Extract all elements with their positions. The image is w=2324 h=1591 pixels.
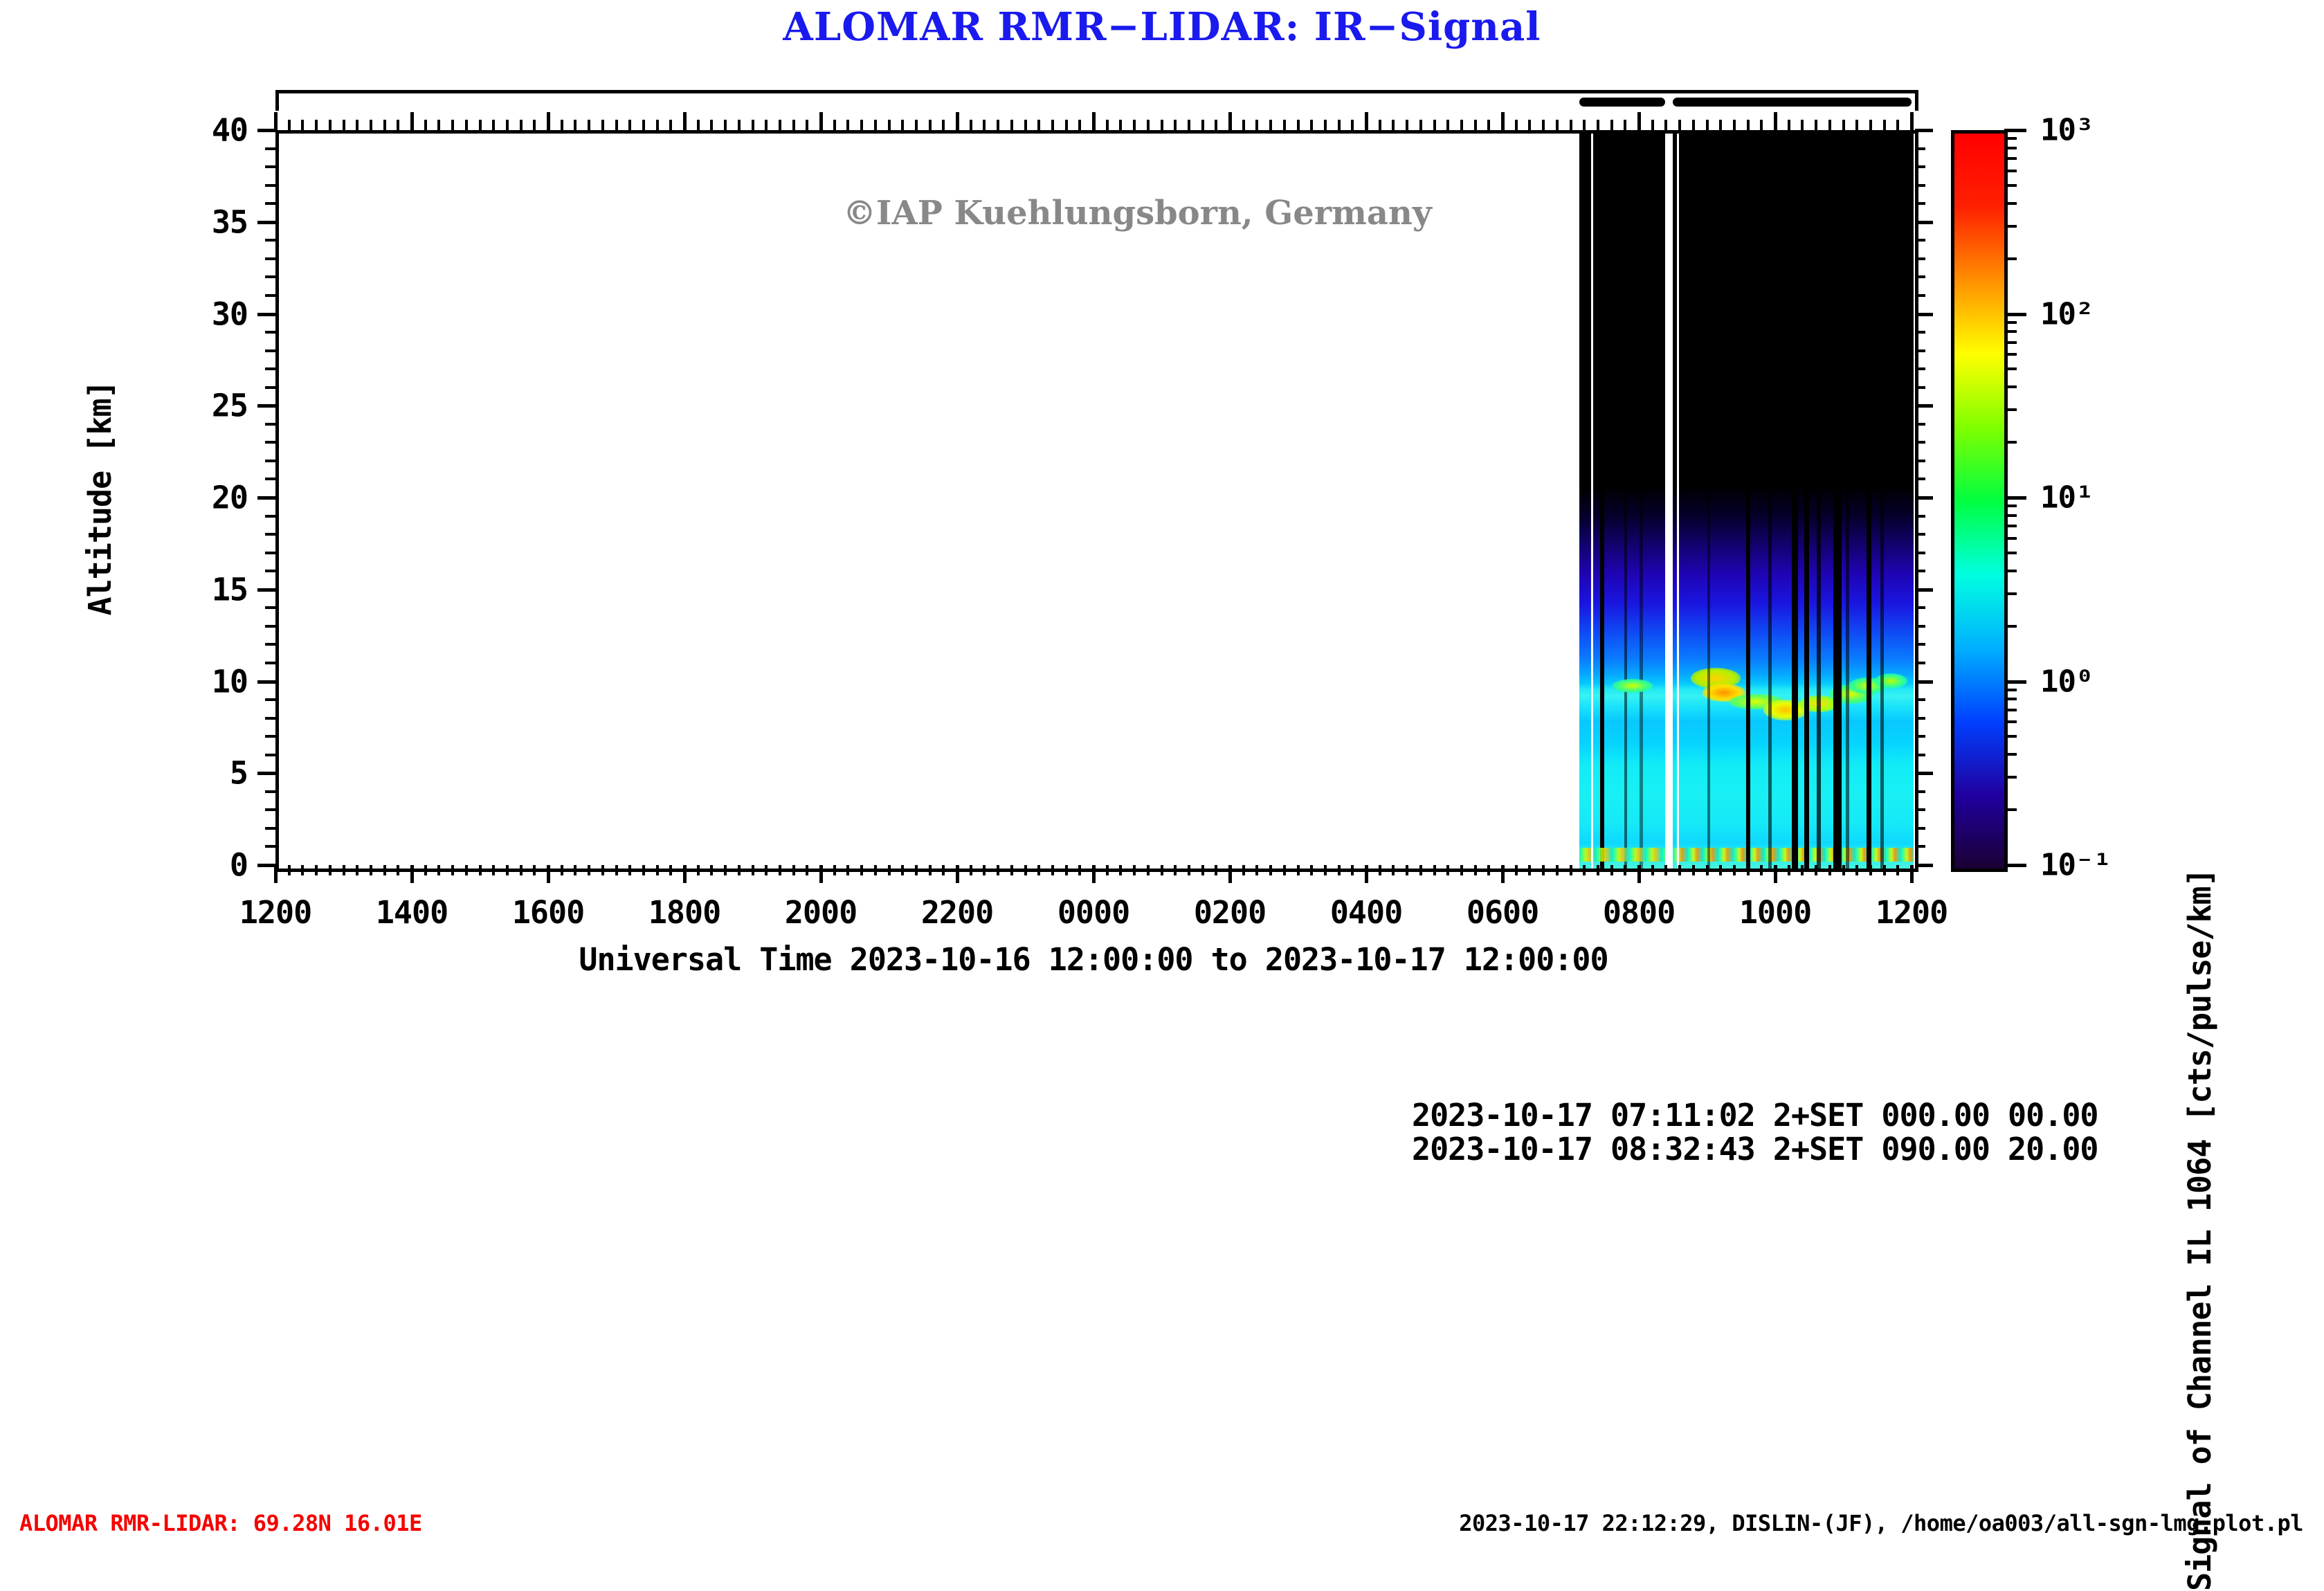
y-tick-minor (265, 202, 275, 205)
x-tick-minor (1351, 865, 1354, 875)
x-tick-minor-top (1570, 120, 1572, 130)
colorbar-tick-minor (2004, 184, 2017, 187)
x-tick-minor (1065, 865, 1068, 875)
colorbar-tick-major (2004, 680, 2026, 684)
x-tick-minor-top (424, 120, 427, 130)
x-tick-minor-top (1037, 120, 1040, 130)
x-tick-minor (846, 865, 849, 875)
x-tick-minor-top (860, 120, 863, 130)
y-tick-major-right (1915, 588, 1933, 592)
x-tick-minor (1597, 865, 1599, 875)
y-tick-minor-right (1915, 570, 1925, 572)
x-tick-minor-top (642, 120, 645, 130)
measurement-interval-strip (275, 90, 1918, 111)
footer-generator-info: 2023-10-17 22:12:29, DISLIN-(JF), /home/… (1459, 1510, 2303, 1536)
measurement-info-line: 2023-10-17 08:32:43 2+SET 090.00 20.00 (1412, 1133, 2098, 1167)
x-tick-minor (451, 865, 454, 875)
x-tick-label: 1400 (376, 894, 448, 931)
y-tick-major-right (1915, 680, 1933, 684)
x-tick-minor (615, 865, 618, 875)
y-tick-minor (265, 386, 275, 389)
x-tick-minor (779, 865, 781, 875)
x-tick-minor-top (806, 120, 808, 130)
x-tick-minor-top (288, 120, 291, 130)
y-tick-minor-right (1915, 662, 1925, 664)
y-tick-major-right (1915, 864, 1933, 867)
x-tick-major-top (1501, 112, 1505, 130)
colorbar-tick-minor (2004, 157, 2017, 160)
x-tick-minor (997, 865, 999, 875)
x-tick-label: 2200 (921, 894, 993, 931)
x-tick-minor (1379, 865, 1381, 875)
x-tick-major-top (1637, 112, 1641, 130)
x-tick-minor-top (301, 120, 304, 130)
x-tick-minor (437, 865, 440, 875)
x-tick-minor (1338, 865, 1341, 875)
x-tick-minor-top (888, 120, 891, 130)
y-tick-minor (265, 735, 275, 738)
x-tick-minor (1815, 865, 1817, 875)
x-tick-minor-top (1406, 120, 1408, 130)
y-tick-minor (265, 478, 275, 480)
y-tick-minor (265, 460, 275, 462)
x-tick-minor (1760, 865, 1763, 875)
dropout-stripe (1833, 134, 1842, 869)
x-tick-minor (315, 865, 318, 875)
x-tick-minor-top (492, 120, 495, 130)
x-tick-label: 1800 (648, 894, 720, 931)
colorbar-tick-minor (2004, 753, 2017, 756)
x-tick-minor-top (437, 120, 440, 130)
x-tick-minor (765, 865, 768, 875)
x-tick-minor (1297, 865, 1300, 875)
y-tick-label: 30 (185, 296, 248, 332)
x-tick-minor-top (901, 120, 904, 130)
x-tick-major (1637, 865, 1641, 883)
x-tick-minor-top (997, 120, 999, 130)
colorbar-tick-label: 10¹ (2040, 480, 2093, 516)
x-tick-minor-top (1147, 120, 1150, 130)
x-tick-minor-top (533, 120, 536, 130)
x-tick-minor-top (356, 120, 358, 130)
y-tick-minor (265, 165, 275, 168)
x-tick-minor (601, 865, 604, 875)
x-tick-minor (806, 865, 808, 875)
x-tick-minor-top (1051, 120, 1054, 130)
x-tick-minor (888, 865, 891, 875)
x-tick-minor-top (792, 120, 795, 130)
x-tick-minor (1215, 865, 1217, 875)
x-tick-minor-top (710, 120, 713, 130)
y-tick-minor-right (1915, 478, 1925, 480)
colorbar-tick-minor (2004, 525, 2017, 527)
x-tick-minor (1747, 865, 1750, 875)
data-gap (1665, 134, 1673, 869)
x-tick-major-top (547, 112, 550, 130)
x-tick-minor-top (1065, 120, 1068, 130)
colorbar-tick-minor (2004, 202, 2017, 205)
y-tick-major (257, 588, 275, 592)
x-tick-minor (1896, 865, 1899, 875)
x-tick-minor (1583, 865, 1586, 875)
y-tick-minor (265, 606, 275, 609)
y-axis-title: Altitude [km] (82, 381, 118, 615)
colorbar-tick-label: 10² (2040, 296, 2093, 331)
y-tick-minor (265, 239, 275, 242)
x-tick-minor (1842, 865, 1845, 875)
colorbar-ticks (2004, 130, 2032, 865)
x-tick-minor (942, 865, 945, 875)
x-tick-major (956, 865, 959, 883)
colorbar-tick-minor (2004, 367, 2017, 370)
x-tick-minor (1419, 865, 1422, 875)
colorbar-tick-major (2004, 129, 2026, 132)
x-tick-minor-top (574, 120, 577, 130)
x-tick-minor (1283, 865, 1286, 875)
y-tick-minor-right (1915, 808, 1925, 811)
x-tick-minor-top (1446, 120, 1449, 130)
x-tick-minor-top (1433, 120, 1436, 130)
x-tick-minor (1474, 865, 1477, 875)
x-tick-minor-top (1119, 120, 1122, 130)
x-tick-minor-top (506, 120, 509, 130)
x-tick-minor (1855, 865, 1858, 875)
dropout-stripe (1804, 134, 1809, 869)
colorbar-tick-minor (2004, 257, 2017, 260)
x-tick-minor (1310, 865, 1313, 875)
y-tick-minor-right (1915, 423, 1925, 426)
x-tick-minor (1201, 865, 1204, 875)
x-tick-minor (520, 865, 523, 875)
colorbar-tick-minor (2004, 592, 2017, 595)
x-tick-minor (1828, 865, 1831, 875)
x-tick-major (1501, 865, 1505, 883)
measurement-info-block: 2023-10-17 07:11:02 2+SET 000.00 00.0020… (1412, 1099, 2098, 1166)
x-tick-minor (1733, 865, 1736, 875)
y-tick-minor-right (1915, 386, 1925, 389)
x-tick-minor-top (1474, 120, 1477, 130)
y-tick-label: 15 (185, 571, 248, 608)
x-tick-major-top (1774, 112, 1777, 130)
y-tick-minor-right (1915, 460, 1925, 462)
y-tick-major (257, 313, 275, 316)
y-tick-minor-right (1915, 515, 1925, 518)
x-tick-major (274, 865, 278, 883)
y-tick-minor-right (1915, 257, 1925, 260)
x-tick-major-top (1228, 112, 1232, 130)
colorbar-tick-minor (2004, 552, 2017, 554)
colorbar-tick-major (2004, 496, 2026, 500)
y-tick-minor-right (1915, 606, 1925, 609)
x-tick-minor (479, 865, 482, 875)
x-axis-title: Universal Time 2023-10-16 12:00:00 to 20… (275, 941, 1912, 978)
dropout-stripe (1846, 134, 1849, 869)
x-tick-minor (1119, 865, 1122, 875)
y-tick-major-right (1915, 404, 1933, 408)
x-tick-minor (1406, 865, 1408, 875)
y-tick-minor (265, 643, 275, 646)
x-tick-minor (397, 865, 399, 875)
colorbar-tick-label: 10⁻¹ (2040, 848, 2111, 883)
colorbar-tick-minor (2004, 225, 2017, 228)
y-tick-minor (265, 754, 275, 756)
x-tick-minor-top (1597, 120, 1599, 130)
x-tick-major (1092, 865, 1096, 883)
x-tick-minor-top (1801, 120, 1804, 130)
x-tick-minor-top (1161, 120, 1163, 130)
x-tick-minor-top (479, 120, 482, 130)
colorbar-tick-minor (2004, 689, 2017, 691)
aerosol-feature (1613, 679, 1653, 693)
x-tick-minor (1570, 865, 1572, 875)
colorbar-tick-label: 10⁰ (2040, 664, 2093, 699)
x-tick-minor (901, 865, 904, 875)
x-tick-minor (492, 865, 495, 875)
colorbar-tick-minor (2004, 698, 2017, 700)
y-tick-minor-right (1915, 827, 1925, 830)
x-tick-minor (370, 865, 372, 875)
y-tick-minor (265, 845, 275, 848)
x-tick-minor-top (1542, 120, 1545, 130)
x-tick-minor (874, 865, 877, 875)
x-tick-minor-top (1255, 120, 1258, 130)
colorbar-gradient (1954, 134, 2004, 869)
colorbar-tick-minor (2004, 537, 2017, 540)
x-tick-minor (1883, 865, 1886, 875)
x-tick-label: 1000 (1739, 894, 1811, 931)
y-tick-minor (265, 349, 275, 352)
y-tick-minor (265, 790, 275, 793)
x-tick-minor (1719, 865, 1722, 875)
x-tick-minor (1869, 865, 1872, 875)
x-tick-minor (343, 865, 345, 875)
x-tick-minor (1528, 865, 1531, 875)
x-tick-minor-top (765, 120, 768, 130)
x-tick-minor (1651, 865, 1654, 875)
x-tick-minor-top (1651, 120, 1654, 130)
x-tick-minor-top (1460, 120, 1463, 130)
x-tick-minor (1433, 865, 1436, 875)
colorbar-title: Signal of Channel IL 1064 [cts/pulse/km] (2181, 869, 2218, 1591)
x-tick-minor-top (1556, 120, 1559, 130)
x-tick-major-top (819, 112, 823, 130)
x-tick-minor (1255, 865, 1258, 875)
y-tick-major-right (1915, 496, 1933, 500)
x-tick-minor (1801, 865, 1804, 875)
x-tick-minor-top (833, 120, 836, 130)
x-tick-minor (1051, 865, 1054, 875)
dropout-stripe (1746, 134, 1750, 869)
y-tick-major-right (1915, 313, 1933, 316)
colorbar-tick-minor (2004, 330, 2017, 333)
x-tick-major (1365, 865, 1368, 883)
colorbar-tick-major (2004, 864, 2026, 867)
colorbar-tick-minor (2004, 385, 2017, 388)
data-gap-edge (1591, 134, 1593, 869)
measurement-info-line: 2023-10-17 07:11:02 2+SET 000.00 00.00 (1412, 1099, 2098, 1133)
dropout-stripe (1817, 134, 1821, 869)
x-tick-minor (1542, 865, 1545, 875)
x-tick-major (1228, 865, 1232, 883)
x-tick-minor (1106, 865, 1109, 875)
measurement-interval-bar (1673, 98, 1912, 107)
colorbar (1951, 130, 2008, 872)
x-tick-minor-top (628, 120, 631, 130)
x-tick-minor (1010, 865, 1013, 875)
x-tick-label: 1600 (512, 894, 584, 931)
x-tick-minor (792, 865, 795, 875)
x-tick-minor (1487, 865, 1490, 875)
dropout-stripe (1880, 134, 1884, 869)
y-tick-label: 40 (185, 112, 248, 149)
y-tick-minor (265, 827, 275, 830)
x-tick-minor-top (343, 120, 345, 130)
y-tick-minor-right (1915, 698, 1925, 701)
x-tick-minor (1515, 865, 1518, 875)
x-tick-minor-top (656, 120, 659, 130)
x-tick-minor (465, 865, 468, 875)
x-tick-minor-top (1283, 120, 1286, 130)
colorbar-tick-minor (2004, 808, 2017, 811)
x-tick-label: 0400 (1330, 894, 1402, 931)
x-tick-minor (1188, 865, 1190, 875)
colorbar-tick-minor (2004, 137, 2017, 140)
x-tick-major-top (1365, 112, 1368, 130)
x-tick-minor (915, 865, 918, 875)
y-tick-minor-right (1915, 552, 1925, 554)
y-tick-minor (265, 570, 275, 572)
x-tick-minor-top (1188, 120, 1190, 130)
colorbar-tick-minor (2004, 570, 2017, 572)
x-tick-minor-top (315, 120, 318, 130)
x-tick-minor-top (1201, 120, 1204, 130)
y-tick-minor-right (1915, 441, 1925, 444)
y-tick-minor (265, 184, 275, 187)
x-tick-major (1910, 865, 1914, 883)
y-tick-minor-right (1915, 845, 1925, 848)
y-tick-minor-right (1915, 625, 1925, 628)
y-tick-minor (265, 257, 275, 260)
aerosol-feature (1874, 673, 1907, 689)
x-tick-minor (738, 865, 741, 875)
x-tick-minor-top (601, 120, 604, 130)
y-tick-minor (265, 275, 275, 278)
x-tick-minor-top (1024, 120, 1027, 130)
x-tick-minor-top (1174, 120, 1177, 130)
measurement-interval-bar (1579, 98, 1665, 107)
x-tick-minor-top (615, 120, 618, 130)
x-tick-minor (1664, 865, 1667, 875)
x-tick-minor (710, 865, 713, 875)
colorbar-tick-minor (2004, 504, 2017, 507)
y-tick-minor-right (1915, 643, 1925, 646)
x-tick-minor (588, 865, 590, 875)
x-tick-minor-top (370, 120, 372, 130)
x-tick-minor-top (846, 120, 849, 130)
x-tick-minor (970, 865, 972, 875)
y-tick-minor-right (1915, 331, 1925, 334)
x-tick-minor (1610, 865, 1613, 875)
x-tick-minor-top (1896, 120, 1899, 130)
y-tick-label: 35 (185, 203, 248, 240)
dropout-stripe (1640, 134, 1643, 869)
dropout-stripe (1867, 134, 1871, 869)
colorbar-tick-minor (2004, 170, 2017, 172)
x-tick-minor (574, 865, 577, 875)
y-tick-minor-right (1915, 202, 1925, 205)
x-tick-minor-top (738, 120, 741, 130)
x-tick-minor-top (1487, 120, 1490, 130)
x-tick-minor-top (1692, 120, 1695, 130)
colorbar-tick-minor (2004, 735, 2017, 738)
x-tick-minor-top (983, 120, 986, 130)
x-tick-minor-top (1297, 120, 1300, 130)
colorbar-tick-minor (2004, 776, 2017, 779)
colorbar-tick-minor (2004, 341, 2017, 344)
x-tick-label: 1200 (1876, 894, 1948, 931)
x-tick-major-top (1910, 112, 1914, 130)
dropout-stripe (1600, 134, 1604, 869)
y-tick-major (257, 404, 275, 408)
page-title: ALOMAR RMR−LIDAR: IR−Signal (0, 4, 2324, 50)
x-tick-minor (860, 865, 863, 875)
y-tick-minor-right (1915, 165, 1925, 168)
dropout-stripe (1624, 134, 1627, 869)
x-tick-minor-top (779, 120, 781, 130)
x-tick-minor-top (942, 120, 945, 130)
x-tick-minor-top (561, 120, 563, 130)
heatmap-plot-area (279, 134, 1915, 869)
x-tick-minor-top (724, 120, 727, 130)
y-tick-minor-right (1915, 147, 1925, 150)
x-tick-major (1774, 865, 1777, 883)
x-tick-minor (1174, 865, 1177, 875)
colorbar-tick-minor (2004, 321, 2017, 324)
x-tick-minor (1024, 865, 1027, 875)
x-tick-minor (1078, 865, 1081, 875)
y-tick-major (257, 129, 275, 132)
colorbar-tick-minor (2004, 720, 2017, 723)
x-tick-minor-top (1106, 120, 1109, 130)
x-tick-minor-top (1624, 120, 1626, 130)
x-tick-minor (288, 865, 291, 875)
x-tick-minor-top (1610, 120, 1613, 130)
x-tick-minor (1446, 865, 1449, 875)
x-tick-minor-top (1078, 120, 1081, 130)
y-tick-minor (265, 808, 275, 811)
x-tick-minor-top (752, 120, 754, 130)
x-tick-minor-top (697, 120, 700, 130)
x-tick-minor-top (1678, 120, 1681, 130)
copyright-notice: ©IAP Kuehlungsborn, Germany (843, 194, 1432, 233)
x-tick-minor-top (1324, 120, 1327, 130)
colorbar-tick-minor (2004, 353, 2017, 356)
x-tick-minor (642, 865, 645, 875)
x-tick-minor-top (383, 120, 386, 130)
x-tick-minor-top (1869, 120, 1872, 130)
x-tick-minor (533, 865, 536, 875)
x-tick-minor-top (1719, 120, 1722, 130)
y-tick-minor (265, 147, 275, 150)
x-tick-minor-top (929, 120, 932, 130)
y-tick-minor (265, 698, 275, 701)
y-tick-minor (265, 533, 275, 536)
colorbar-tick-major (2004, 313, 2026, 316)
y-tick-minor-right (1915, 275, 1925, 278)
x-tick-minor (1706, 865, 1709, 875)
y-tick-label: 5 (185, 755, 248, 792)
x-tick-minor-top (1733, 120, 1736, 130)
